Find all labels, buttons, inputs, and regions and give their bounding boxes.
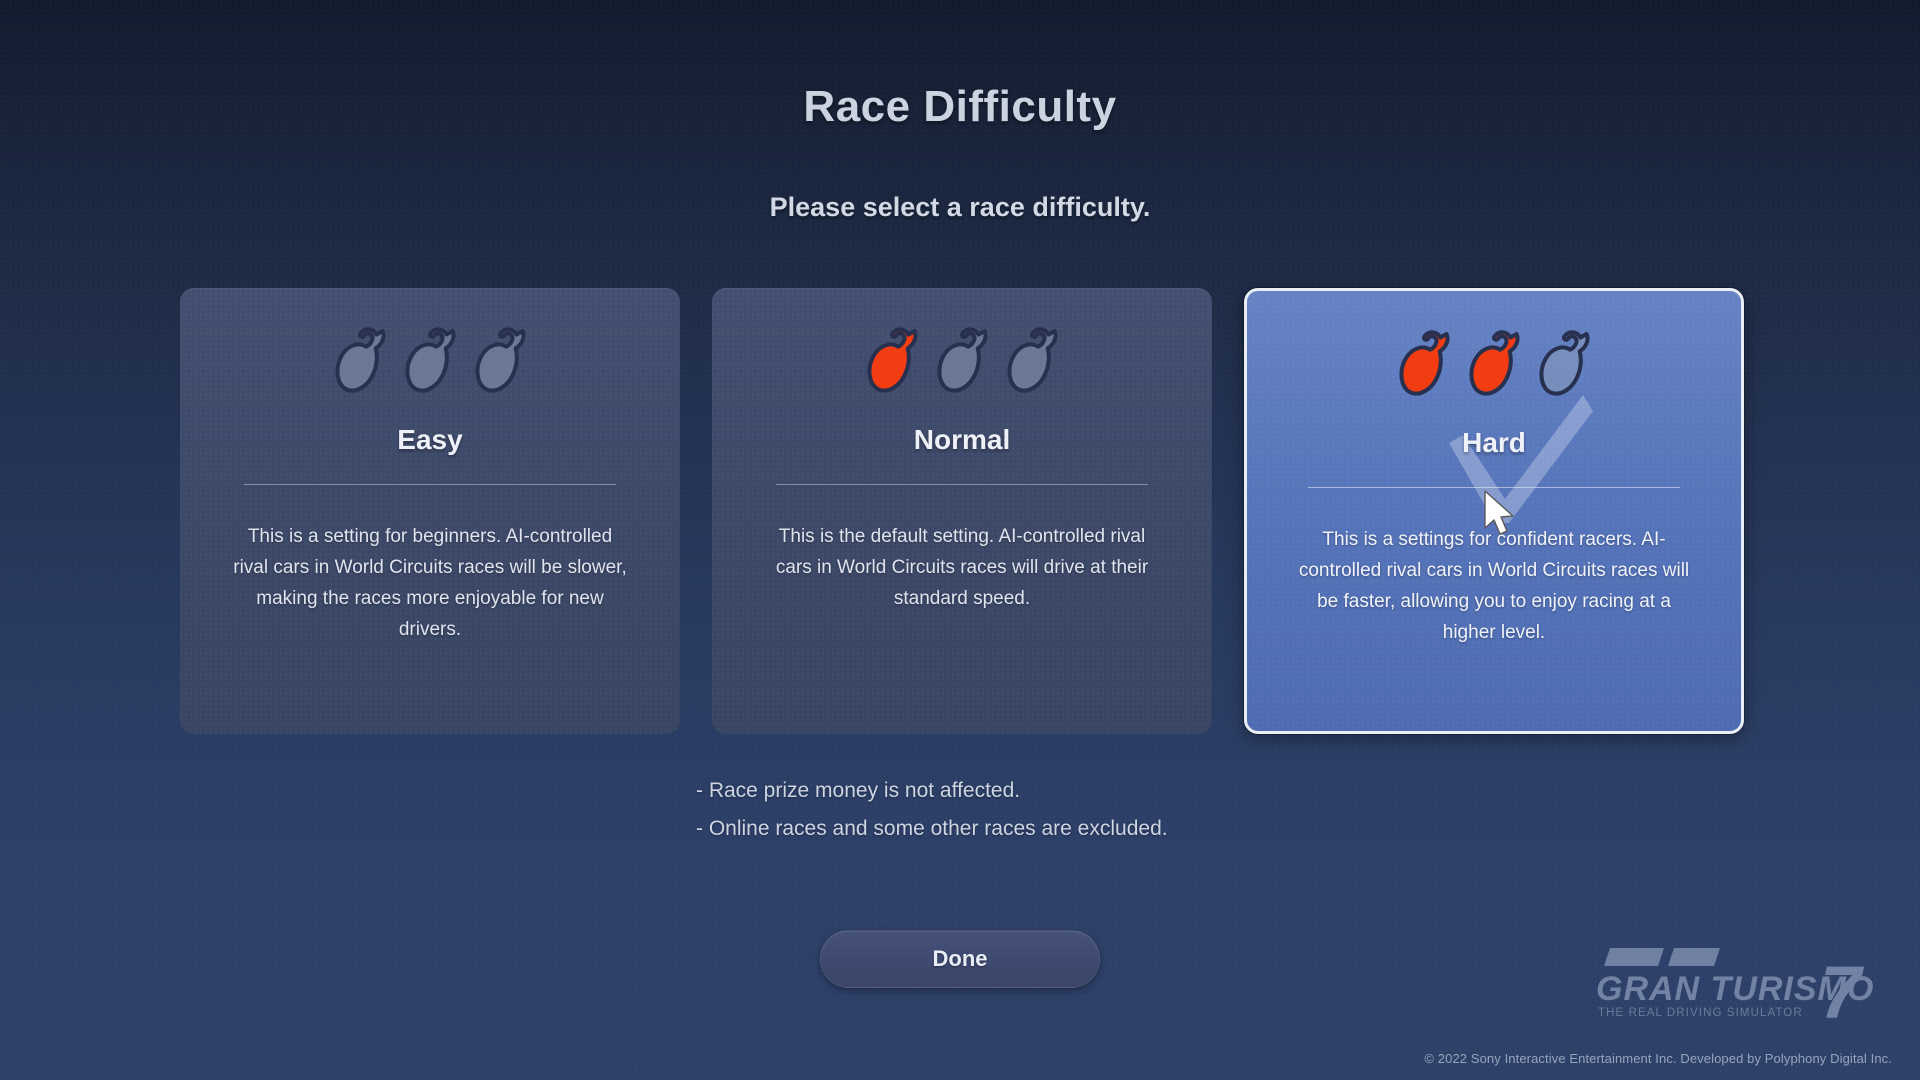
chili-pepper-icon xyxy=(1463,327,1525,399)
chili-pepper-icon xyxy=(329,324,391,396)
card-divider xyxy=(1308,487,1680,488)
pepper-rating xyxy=(329,322,531,398)
copyright-text: © 2022 Sony Interactive Entertainment In… xyxy=(1424,1051,1892,1066)
chili-pepper-icon xyxy=(861,324,923,396)
chili-pepper-icon xyxy=(1001,324,1063,396)
pepper-rating xyxy=(1393,325,1595,401)
chili-pepper-icon xyxy=(1533,327,1595,399)
card-divider xyxy=(776,484,1148,485)
difficulty-card-easy[interactable]: EasyThis is a setting for beginners. AI-… xyxy=(180,288,680,734)
svg-text:7: 7 xyxy=(1820,951,1865,1028)
card-description: This is a setting for beginners. AI-cont… xyxy=(230,521,630,645)
card-title: Hard xyxy=(1462,427,1526,459)
card-title: Normal xyxy=(914,424,1010,456)
chili-pepper-icon xyxy=(931,324,993,396)
card-content: HardThis is a settings for confident rac… xyxy=(1247,291,1741,731)
difficulty-options-list: EasyThis is a setting for beginners. AI-… xyxy=(180,288,1746,734)
card-content: NormalThis is the default setting. AI-co… xyxy=(712,288,1212,734)
chili-pepper-icon xyxy=(399,324,461,396)
done-button[interactable]: Done xyxy=(820,930,1100,988)
card-content: EasyThis is a setting for beginners. AI-… xyxy=(180,288,680,734)
page-subtitle: Please select a race difficulty. xyxy=(0,192,1920,223)
page-title: Race Difficulty xyxy=(0,82,1920,132)
gran-turismo-logo: GRAN TURISMO THE REAL DRIVING SIMULATOR … xyxy=(1592,942,1892,1028)
difficulty-card-hard[interactable]: HardThis is a settings for confident rac… xyxy=(1244,288,1744,734)
card-description: This is the default setting. AI-controll… xyxy=(762,521,1162,614)
note-line: - Race prize money is not affected. xyxy=(696,772,1168,810)
svg-text:THE REAL DRIVING SIMULATOR: THE REAL DRIVING SIMULATOR xyxy=(1598,1007,1803,1019)
note-line: - Online races and some other races are … xyxy=(696,810,1168,848)
chili-pepper-icon xyxy=(1393,327,1455,399)
chili-pepper-icon xyxy=(469,324,531,396)
card-divider xyxy=(244,484,616,485)
card-title: Easy xyxy=(397,424,462,456)
difficulty-card-normal[interactable]: NormalThis is the default setting. AI-co… xyxy=(712,288,1212,734)
notes-list: - Race prize money is not affected.- Onl… xyxy=(696,772,1168,848)
card-description: This is a settings for confident racers.… xyxy=(1294,524,1694,648)
pepper-rating xyxy=(861,322,1063,398)
